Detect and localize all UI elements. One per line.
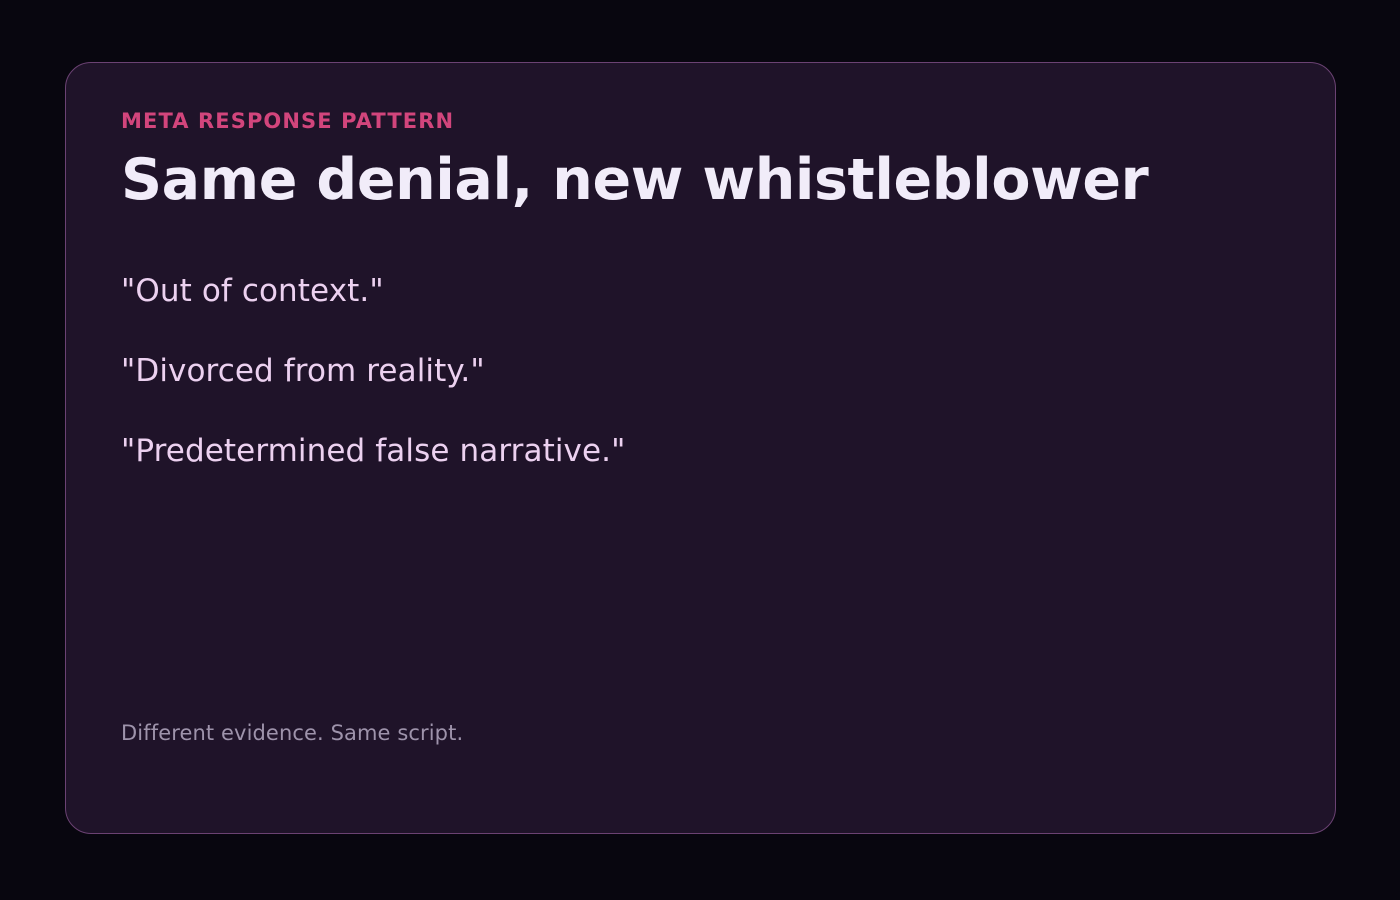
list-item: "Predetermined false narrative." [121,434,1280,468]
quote-list: "Out of context." "Divorced from reality… [121,274,1280,468]
card-eyebrow-label: META RESPONSE PATTERN [121,111,1280,132]
list-item: "Divorced from reality." [121,354,1280,388]
page-title: Same denial, new whistleblower [121,150,1280,212]
layout-spacer [121,468,1280,722]
meta-response-pattern-card: META RESPONSE PATTERN Same denial, new w… [65,62,1336,834]
page-canvas: META RESPONSE PATTERN Same denial, new w… [0,0,1400,900]
card-footnote: Different evidence. Same script. [121,722,1280,793]
list-item: "Out of context." [121,274,1280,308]
